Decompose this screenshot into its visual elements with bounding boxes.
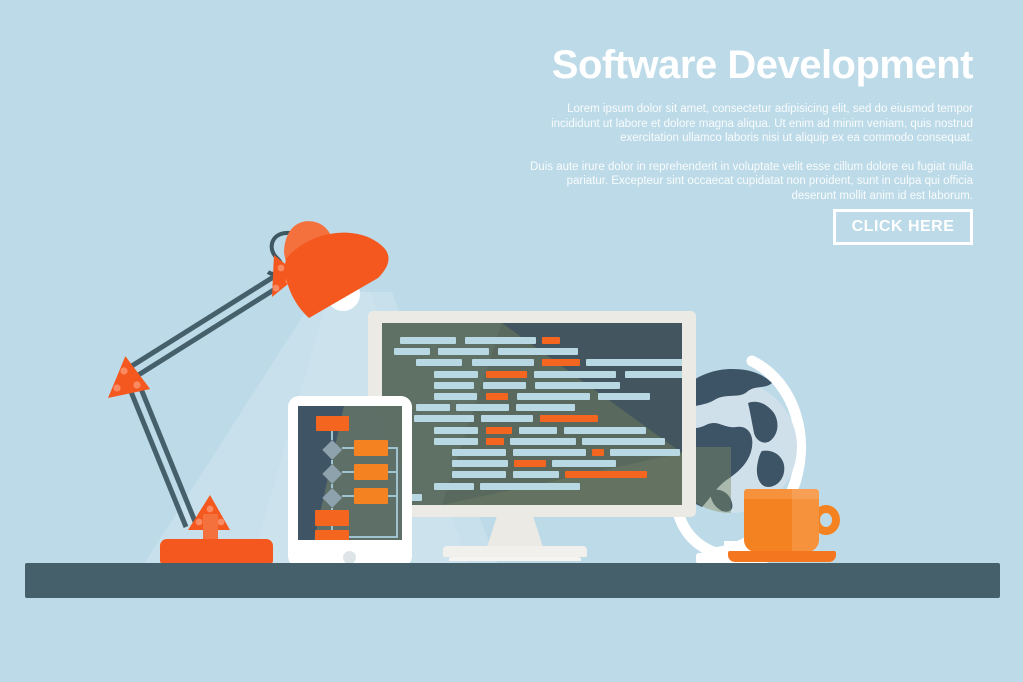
monitor-base bbox=[443, 546, 587, 557]
code-line-segment bbox=[416, 359, 462, 366]
code-line-segment bbox=[434, 393, 477, 400]
cup-saucer bbox=[728, 551, 836, 562]
code-line-segment bbox=[510, 438, 576, 445]
code-line-segment bbox=[513, 449, 586, 456]
code-line-segment bbox=[434, 427, 478, 434]
code-line-segment bbox=[598, 393, 650, 400]
code-line-segment bbox=[434, 382, 474, 389]
flowchart-connector bbox=[342, 471, 354, 473]
code-line-segment bbox=[625, 371, 682, 378]
code-line-segment bbox=[452, 471, 506, 478]
tablet bbox=[288, 396, 412, 567]
code-line-segment bbox=[582, 438, 665, 445]
code-line-segment bbox=[414, 415, 474, 422]
flowchart-process-node bbox=[354, 488, 388, 504]
code-line-segment bbox=[465, 337, 536, 344]
flowchart-connector bbox=[342, 495, 354, 497]
code-line-segment bbox=[498, 348, 578, 355]
code-line-segment bbox=[434, 483, 474, 490]
code-line-segment bbox=[486, 438, 504, 445]
desktop-monitor bbox=[368, 311, 696, 517]
flowchart-process-node bbox=[354, 440, 388, 456]
illustration-canvas: Software Development Lorem ipsum dolor s… bbox=[0, 0, 1023, 682]
flowchart-connector bbox=[396, 447, 398, 536]
flowchart-process-node bbox=[315, 510, 349, 526]
code-line-segment bbox=[416, 404, 450, 411]
code-line-segment bbox=[610, 449, 680, 456]
lamp-base bbox=[160, 539, 273, 563]
code-line-segment bbox=[552, 460, 616, 467]
coffee-cup bbox=[744, 489, 819, 552]
code-line-segment bbox=[517, 393, 590, 400]
flowchart-connector bbox=[331, 431, 333, 440]
flowchart-process-node bbox=[354, 464, 388, 480]
flowchart-connector bbox=[349, 536, 398, 538]
code-line-segment bbox=[472, 359, 534, 366]
tablet-screen bbox=[298, 406, 402, 540]
code-line-segment bbox=[592, 449, 604, 456]
code-line-segment bbox=[452, 460, 508, 467]
lamp-upper-arm-a bbox=[127, 271, 283, 369]
code-line-segment bbox=[534, 371, 616, 378]
lamp-lower-arm-a bbox=[125, 377, 186, 527]
code-line-segment bbox=[542, 337, 560, 344]
code-line-segment bbox=[480, 483, 580, 490]
code-line-segment bbox=[400, 337, 456, 344]
code-line-segment bbox=[486, 371, 527, 378]
code-line-segment bbox=[481, 415, 533, 422]
code-line-segment bbox=[516, 404, 575, 411]
code-line-segment bbox=[542, 359, 580, 366]
code-line-segment bbox=[514, 460, 546, 467]
lamp-lower-arm-b bbox=[135, 374, 196, 524]
code-line-segment bbox=[540, 415, 598, 422]
flowchart-connector bbox=[342, 447, 354, 449]
code-line-segment bbox=[438, 348, 489, 355]
code-line-segment bbox=[452, 449, 506, 456]
code-line-segment bbox=[519, 427, 557, 434]
code-line-segment bbox=[513, 471, 559, 478]
lamp-upper-arm-b bbox=[132, 281, 288, 379]
code-line-segment bbox=[564, 427, 646, 434]
code-line-segment bbox=[434, 438, 478, 445]
monitor-screen bbox=[382, 323, 682, 505]
code-line-segment bbox=[483, 382, 526, 389]
code-line-segment bbox=[394, 348, 430, 355]
code-line-segment bbox=[535, 382, 620, 389]
flowchart-process-node bbox=[315, 530, 349, 540]
desk-surface bbox=[25, 563, 1000, 598]
code-line-segment bbox=[586, 359, 682, 366]
code-line-segment bbox=[565, 471, 647, 478]
code-line-segment bbox=[486, 427, 512, 434]
code-line-segment bbox=[486, 393, 508, 400]
code-line-segment bbox=[434, 371, 478, 378]
flowchart-process-node bbox=[316, 416, 349, 431]
code-line-segment bbox=[456, 404, 509, 411]
